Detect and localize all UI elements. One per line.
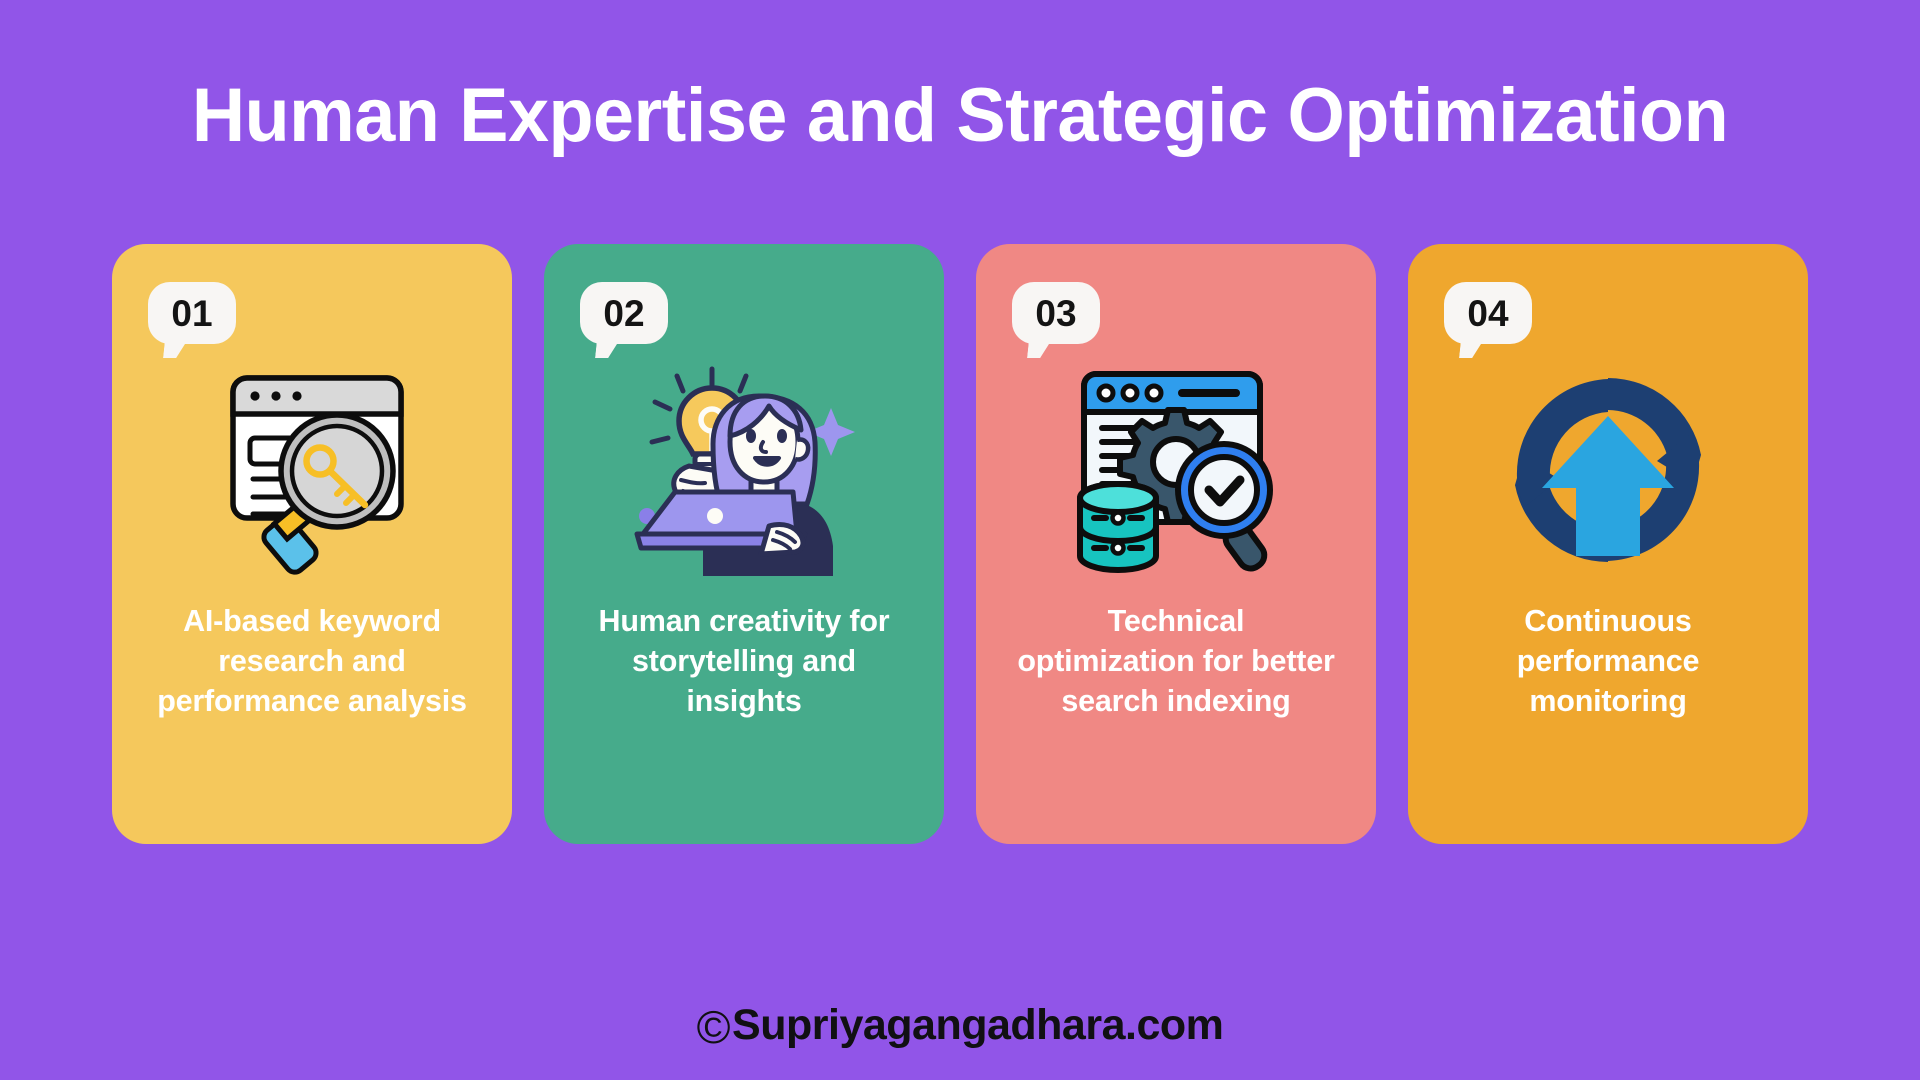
number-badge-02: 02 bbox=[580, 282, 668, 344]
browser-magnifier-key-icon bbox=[112, 358, 512, 588]
number-badge-03: 03 bbox=[1012, 282, 1100, 344]
badge-container-02: 02 bbox=[544, 282, 944, 344]
badge-number-label: 02 bbox=[603, 295, 644, 332]
badge-container-01: 01 bbox=[112, 282, 512, 344]
infographic-page: Human Expertise and Strategic Optimizati… bbox=[0, 0, 1920, 1080]
card-caption-03: Technical optimization for better search… bbox=[1016, 602, 1336, 722]
badge-container-03: 03 bbox=[976, 282, 1376, 344]
badge-number-label: 03 bbox=[1035, 295, 1076, 332]
card-04[interactable]: 04 bbox=[1408, 244, 1808, 844]
card-caption-01: AI-based keyword research and performanc… bbox=[152, 602, 472, 722]
card-01[interactable]: 01 bbox=[112, 244, 512, 844]
card-caption-02: Human creativity for storytelling and in… bbox=[584, 602, 904, 722]
copyright-icon: © bbox=[697, 1004, 730, 1050]
card-02[interactable]: 02 bbox=[544, 244, 944, 844]
cards-row: 01 bbox=[95, 244, 1825, 844]
woman-lightbulb-laptop-icon bbox=[544, 358, 944, 588]
card-caption-04: Continuous performance monitoring bbox=[1448, 602, 1768, 722]
refresh-cycle-up-arrow-icon bbox=[1408, 358, 1808, 588]
badge-number-label: 01 bbox=[171, 295, 212, 332]
footer-watermark: © Supriyagangadhara.com bbox=[0, 1001, 1920, 1050]
footer-site-label: Supriyagangadhara.com bbox=[732, 1001, 1223, 1050]
card-03[interactable]: 03 bbox=[976, 244, 1376, 844]
number-badge-04: 04 bbox=[1444, 282, 1532, 344]
number-badge-01: 01 bbox=[148, 282, 236, 344]
badge-number-label: 04 bbox=[1467, 295, 1508, 332]
browser-gear-database-check-icon bbox=[976, 358, 1376, 588]
page-title: Human Expertise and Strategic Optimizati… bbox=[92, 78, 1828, 154]
badge-container-04: 04 bbox=[1408, 282, 1808, 344]
